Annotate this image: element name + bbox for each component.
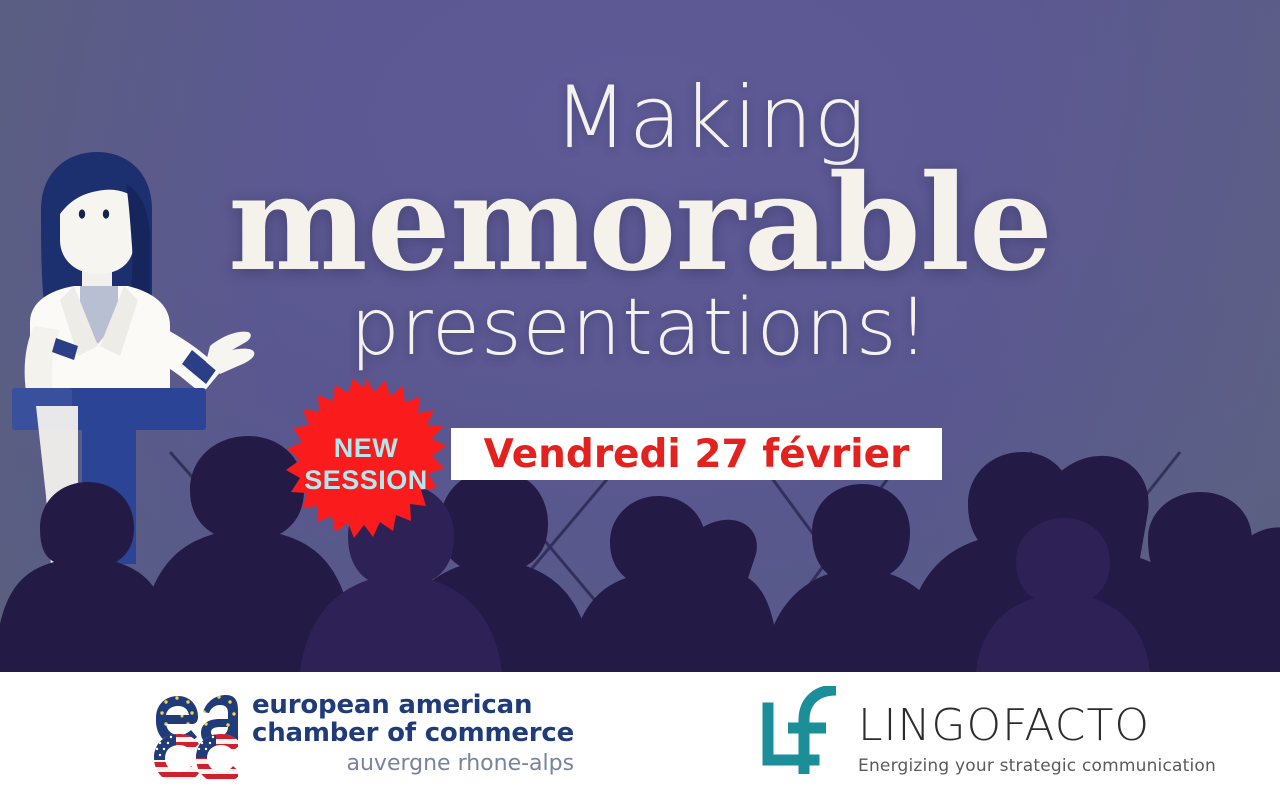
badge-line-session: SESSION <box>304 465 428 495</box>
lingofacto-tagline: Energizing your strategic communication <box>858 756 1216 776</box>
new-session-badge: NEW SESSION <box>286 376 446 552</box>
badge-line-new: NEW <box>334 433 399 463</box>
lingofacto-name: LINGOFACTO <box>858 704 1216 748</box>
footer-logo-bar: european american chamber of commerce au… <box>0 672 1280 800</box>
date-text: Vendredi 27 février <box>484 432 910 477</box>
eacc-region-label: auvergne rhone-alps <box>252 752 574 775</box>
eacc-logo: european american chamber of commerce au… <box>152 688 574 780</box>
lingofacto-wordmark: LINGOFACTO Energizing your strategic com… <box>858 690 1216 776</box>
event-poster: Making memorable presentations! NEW SESS… <box>0 0 1280 800</box>
eacc-line-2: chamber of commerce <box>252 720 574 748</box>
lingofacto-logo: LINGOFACTO Energizing your strategic com… <box>752 690 1216 778</box>
headline-line-making: Making <box>0 78 1280 160</box>
date-banner: Vendredi 27 février <box>451 428 942 480</box>
eacc-wordmark: european american chamber of commerce au… <box>252 692 574 775</box>
eacc-monogram-icon <box>152 688 238 780</box>
badge-text: NEW SESSION <box>286 376 446 552</box>
stage-background: Making memorable presentations! NEW SESS… <box>0 0 1280 672</box>
eacc-line-1: european american <box>252 692 574 720</box>
lingofacto-lf-monogram-icon <box>752 686 848 778</box>
